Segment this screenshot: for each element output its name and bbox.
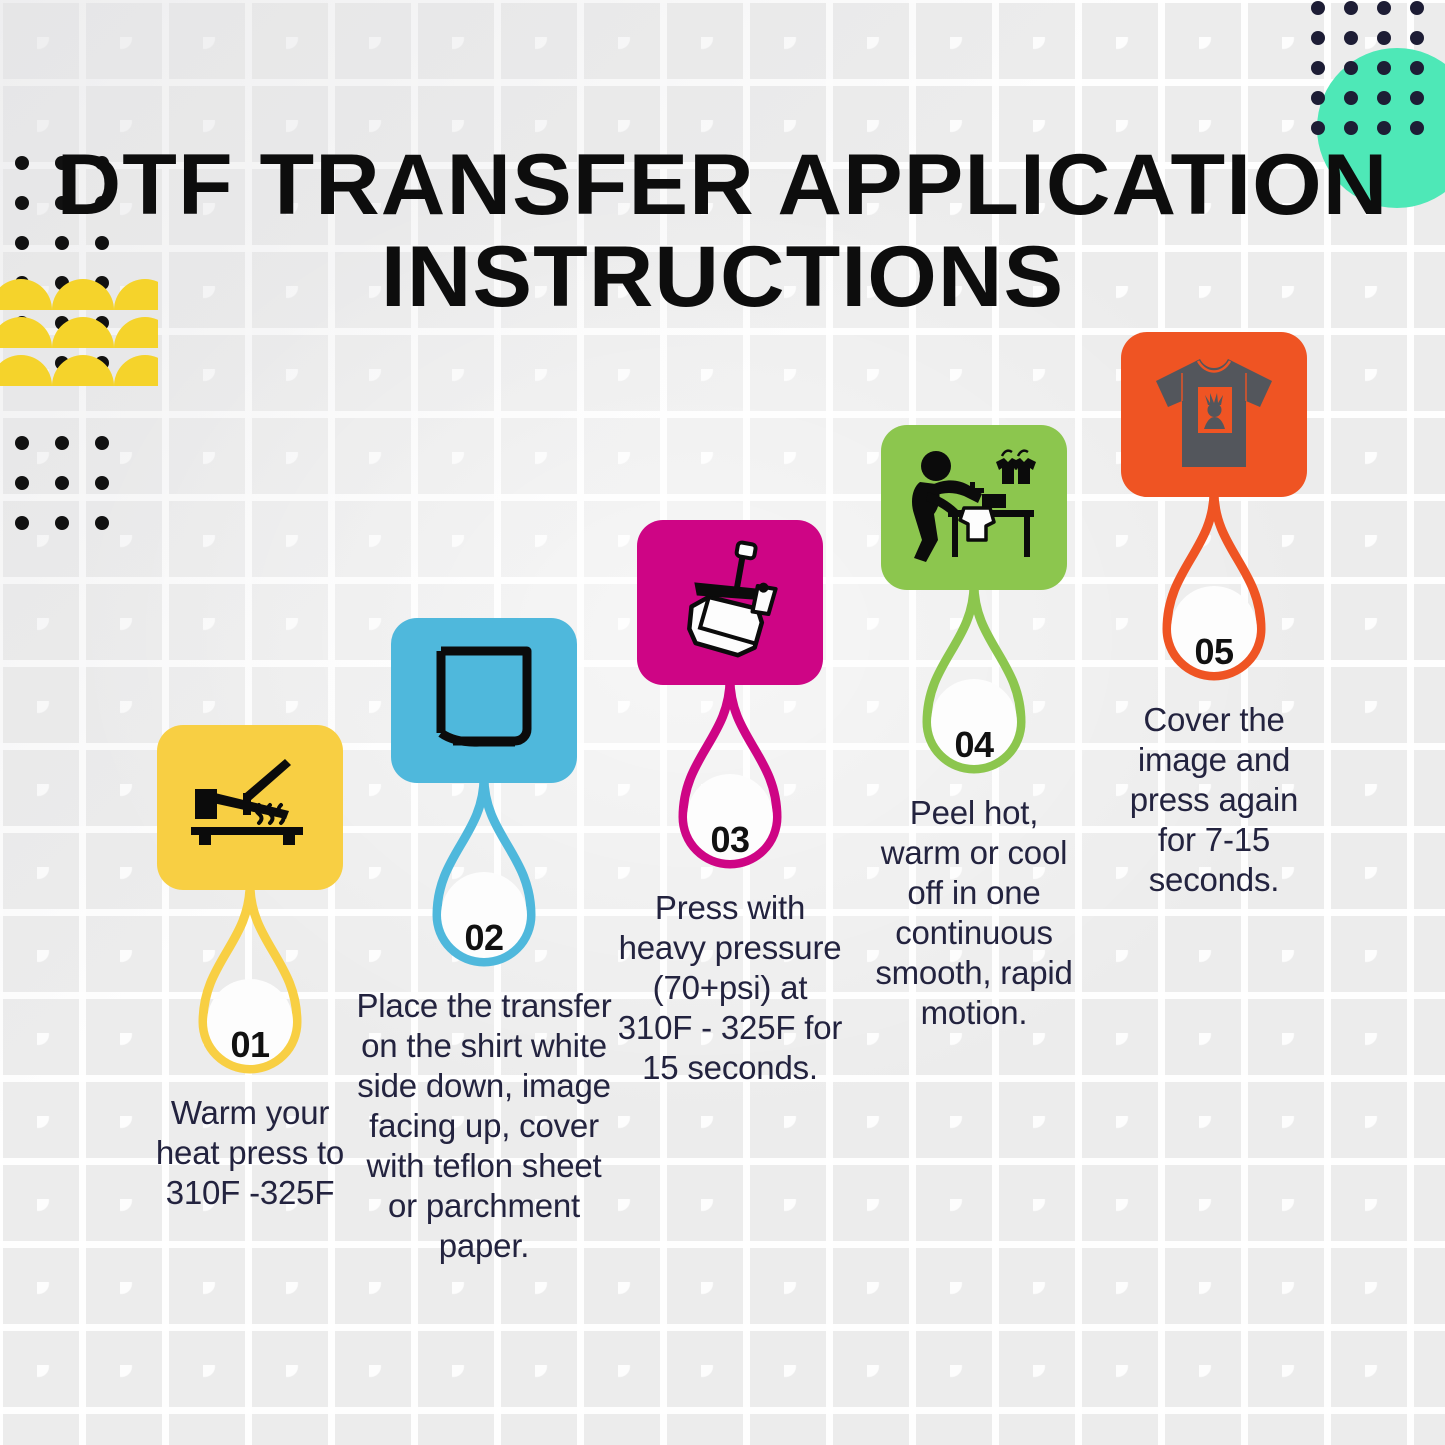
step-04-number: 04 bbox=[919, 724, 1029, 766]
heat-press-machine-icon bbox=[666, 539, 794, 667]
step-05-number: 05 bbox=[1159, 631, 1269, 673]
heat-press-open-icon bbox=[185, 753, 315, 863]
step-01-icon-tile[interactable] bbox=[157, 725, 343, 890]
step-01-caption: Warm your heat press to 310F -325F bbox=[135, 1093, 365, 1213]
step-02-icon-tile[interactable] bbox=[391, 618, 577, 783]
step-05-caption: Cover the image and press again for 7-15… bbox=[1110, 700, 1318, 900]
step-item-05[interactable]: 05 Cover the image and press again for 7… bbox=[1092, 332, 1336, 900]
step-item-01[interactable]: 01 Warm your heat press to 310F -325F bbox=[128, 725, 372, 1213]
step-02-number: 02 bbox=[429, 917, 539, 959]
printed-tshirt-icon bbox=[1148, 355, 1280, 475]
step-01-connector: 01 bbox=[195, 884, 305, 1089]
step-04-icon-tile[interactable] bbox=[881, 425, 1067, 590]
step-03-icon-tile[interactable] bbox=[637, 520, 823, 685]
step-01-number: 01 bbox=[195, 1024, 305, 1066]
transfer-sheet-icon bbox=[429, 643, 539, 758]
step-05-connector: 05 bbox=[1159, 491, 1269, 696]
step-03-caption: Press with heavy pressure (70+psi) at 31… bbox=[616, 888, 844, 1088]
step-04-caption: Peel hot, warm or cool off in one contin… bbox=[867, 793, 1081, 1033]
step-02-connector: 02 bbox=[429, 777, 539, 982]
step-item-03[interactable]: 03 Press with heavy pressure (70+psi) at… bbox=[608, 520, 852, 1088]
step-03-connector: 03 bbox=[675, 679, 785, 884]
step-item-04[interactable]: 04 Peel hot, warm or cool off in one con… bbox=[852, 425, 1096, 1033]
step-item-02[interactable]: 02 Place the transfer on the shirt white… bbox=[362, 618, 606, 1265]
title-line-1: DTF TRANSFER APPLICATION bbox=[0, 143, 1445, 227]
step-04-connector: 04 bbox=[919, 584, 1029, 789]
step-05-icon-tile[interactable] bbox=[1121, 332, 1307, 497]
page-title: DTF TRANSFER APPLICATION INSTRUCTIONS bbox=[0, 143, 1445, 320]
peel-transfer-person-icon bbox=[904, 444, 1044, 572]
title-line-2: INSTRUCTIONS bbox=[0, 235, 1445, 319]
step-03-number: 03 bbox=[675, 819, 785, 861]
step-02-caption: Place the transfer on the shirt white si… bbox=[355, 986, 613, 1265]
infographic-poster: DTF TRANSFER APPLICATION INSTRUCTIONS bbox=[0, 0, 1445, 1445]
